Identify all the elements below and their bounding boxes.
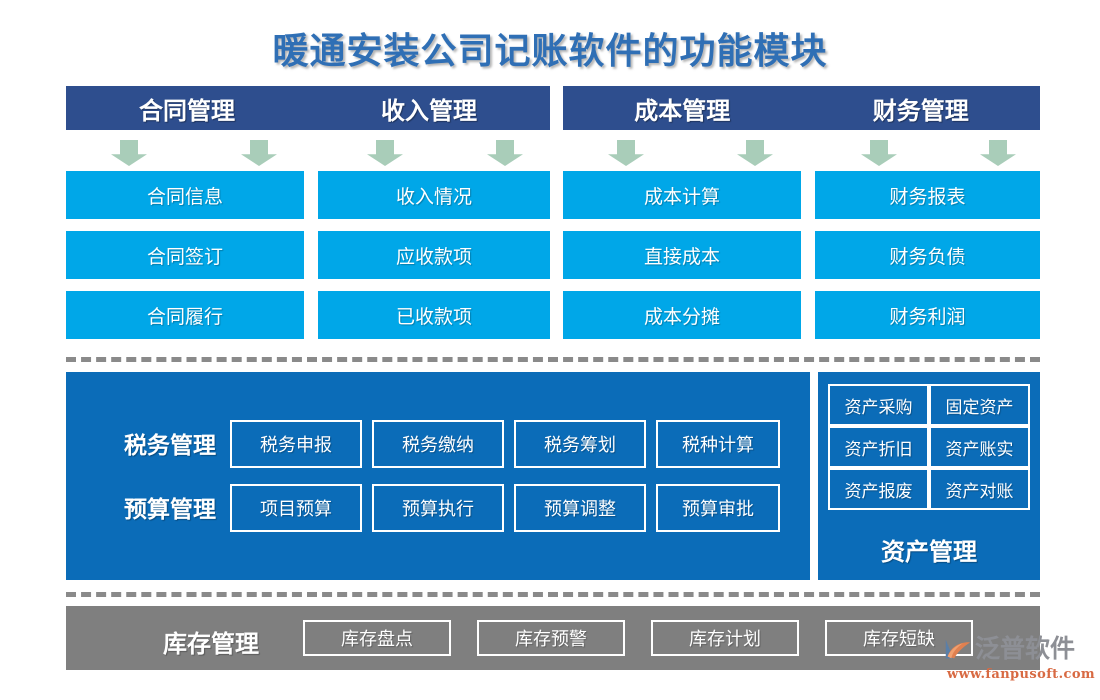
module-box-inventory-plan[interactable]: 库存计划 — [651, 620, 799, 656]
group-header-contract[interactable]: 合同管理 — [66, 86, 308, 130]
group-header-bar-left: 合同管理 收入管理 — [66, 86, 550, 130]
down-arrow-icon — [367, 140, 403, 166]
asset-management-title: 资产管理 — [818, 526, 1040, 572]
module-box-financial-liability[interactable]: 财务负债 — [815, 231, 1040, 279]
module-box-contract-info[interactable]: 合同信息 — [66, 171, 304, 219]
module-box-tax-payment[interactable]: 税务缴纳 — [372, 420, 504, 468]
module-box-inventory-alert[interactable]: 库存预警 — [477, 620, 625, 656]
module-box-tax-type-calc[interactable]: 税种计算 — [656, 420, 780, 468]
module-box-contract-execution[interactable]: 合同履行 — [66, 291, 304, 339]
module-box-contract-signing[interactable]: 合同签订 — [66, 231, 304, 279]
diagram-canvas: 暖通安装公司记账软件的功能模块 合同管理 收入管理 成本管理 财务管理 合同信息… — [0, 0, 1100, 700]
module-box-financial-profit[interactable]: 财务利润 — [815, 291, 1040, 339]
down-arrow-icon — [487, 140, 523, 166]
inventory-panel: 库存管理 库存盘点 库存预警 库存计划 库存短缺 — [66, 606, 1040, 670]
tax-budget-panel: 税务管理 预算管理 税务申报 税务缴纳 税务筹划 税种计算 项目预算 预算执行 … — [66, 372, 810, 580]
down-arrow-icon — [861, 140, 897, 166]
module-box-budget-adjustment[interactable]: 预算调整 — [514, 484, 646, 532]
group-header-income[interactable]: 收入管理 — [308, 86, 550, 130]
dashed-divider-top — [66, 357, 1040, 362]
fanpu-logo-icon — [942, 634, 972, 664]
logo-url: www.fanpusoft.com — [947, 667, 1098, 682]
down-arrow-icon — [111, 140, 147, 166]
module-box-cost-allocation[interactable]: 成本分摊 — [563, 291, 801, 339]
module-box-asset-depreciation[interactable]: 资产折旧 — [828, 426, 929, 468]
module-box-project-budget[interactable]: 项目预算 — [230, 484, 362, 532]
down-arrow-icon — [608, 140, 644, 166]
module-box-tax-planning[interactable]: 税务筹划 — [514, 420, 646, 468]
group-header-finance[interactable]: 财务管理 — [802, 86, 1041, 130]
page-title: 暖通安装公司记账软件的功能模块 — [0, 22, 1100, 74]
module-box-direct-cost[interactable]: 直接成本 — [563, 231, 801, 279]
module-box-asset-inventory[interactable]: 资产账实 — [929, 426, 1030, 468]
module-box-inventory-count[interactable]: 库存盘点 — [303, 620, 451, 656]
row-label-tax: 税务管理 — [100, 426, 240, 460]
module-box-received-payments[interactable]: 已收款项 — [318, 291, 550, 339]
module-box-budget-execution[interactable]: 预算执行 — [372, 484, 504, 532]
module-box-income-status[interactable]: 收入情况 — [318, 171, 550, 219]
down-arrow-icon — [241, 140, 277, 166]
down-arrow-icon — [980, 140, 1016, 166]
module-box-asset-scrapping[interactable]: 资产报废 — [828, 468, 929, 510]
row-label-budget: 预算管理 — [100, 490, 240, 524]
logo-row: 泛普软件 — [942, 632, 1098, 666]
module-box-tax-declaration[interactable]: 税务申报 — [230, 420, 362, 468]
arrow-row — [0, 140, 1100, 166]
inventory-management-label: 库存管理 — [126, 624, 296, 659]
module-box-asset-procurement[interactable]: 资产采购 — [828, 384, 929, 426]
brand-logo: 泛普软件 www.fanpusoft.com — [942, 632, 1098, 692]
group-header-cost[interactable]: 成本管理 — [563, 86, 802, 130]
module-box-cost-calculation[interactable]: 成本计算 — [563, 171, 801, 219]
module-box-fixed-asset[interactable]: 固定资产 — [929, 384, 1030, 426]
down-arrow-icon — [737, 140, 773, 166]
dashed-divider-bottom — [66, 592, 1040, 597]
module-box-receivables[interactable]: 应收款项 — [318, 231, 550, 279]
module-box-asset-reconciliation[interactable]: 资产对账 — [929, 468, 1030, 510]
module-box-financial-report[interactable]: 财务报表 — [815, 171, 1040, 219]
group-header-bar-right: 成本管理 财务管理 — [563, 86, 1040, 130]
module-box-budget-approval[interactable]: 预算审批 — [656, 484, 780, 532]
logo-name: 泛普软件 — [975, 634, 1075, 664]
